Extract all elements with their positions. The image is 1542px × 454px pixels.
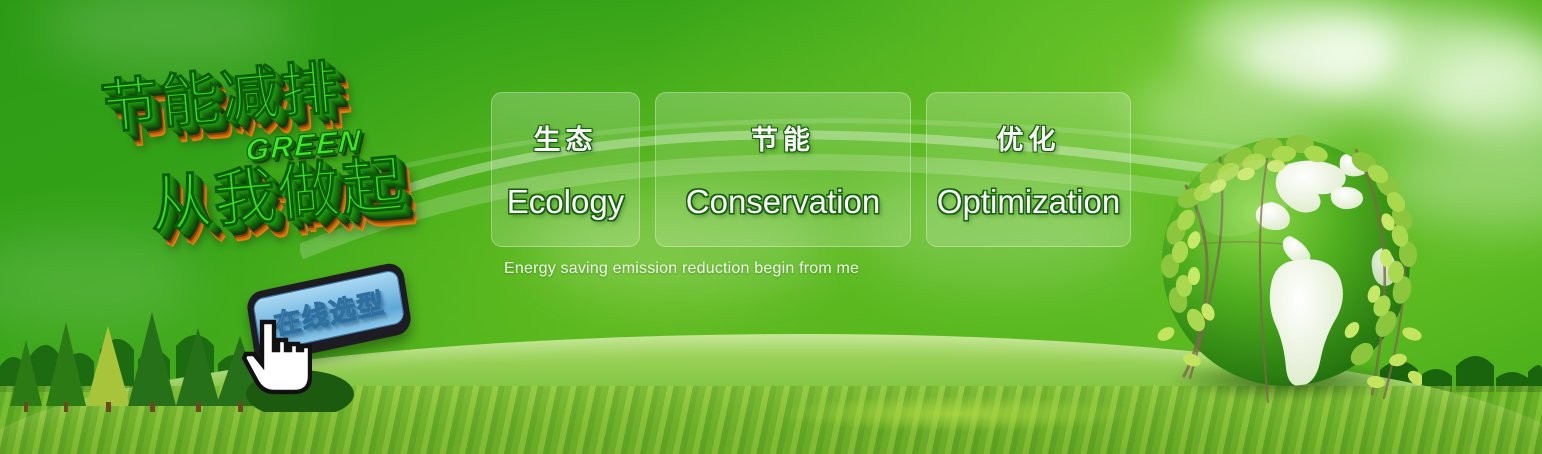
- feature-card-title-en: Optimization: [937, 183, 1120, 221]
- feature-card-list: 生态 Ecology 节能 Conservation 优化 Optimizati…: [491, 92, 1131, 247]
- feature-card-conservation[interactable]: 节能 Conservation: [655, 92, 911, 247]
- eco-promo-banner: 节能减排 GREEN 从我做起 在线选型 生态 Ecology 节能 Conse…: [0, 0, 1542, 454]
- leafy-earth-globe-icon: [1150, 128, 1422, 414]
- headline-line-2: 从我做起: [146, 133, 409, 245]
- feature-card-title-cn: 生态: [534, 118, 598, 157]
- feature-card-title-cn: 节能: [751, 118, 815, 157]
- headline-3d: 节能减排 GREEN 从我做起: [87, 21, 506, 285]
- feature-card-optimization[interactable]: 优化 Optimization: [926, 92, 1131, 247]
- feature-card-title-cn: 优化: [997, 118, 1061, 157]
- leafy-earth-globe: [1150, 128, 1422, 414]
- feature-card-title-en: Conservation: [686, 183, 880, 221]
- feature-card-title-en: Ecology: [507, 183, 624, 221]
- feature-card-ecology[interactable]: 生态 Ecology: [491, 92, 640, 247]
- banner-tagline: Energy saving emission reduction begin f…: [504, 260, 859, 278]
- hand-pointer-cursor-icon: [240, 316, 312, 396]
